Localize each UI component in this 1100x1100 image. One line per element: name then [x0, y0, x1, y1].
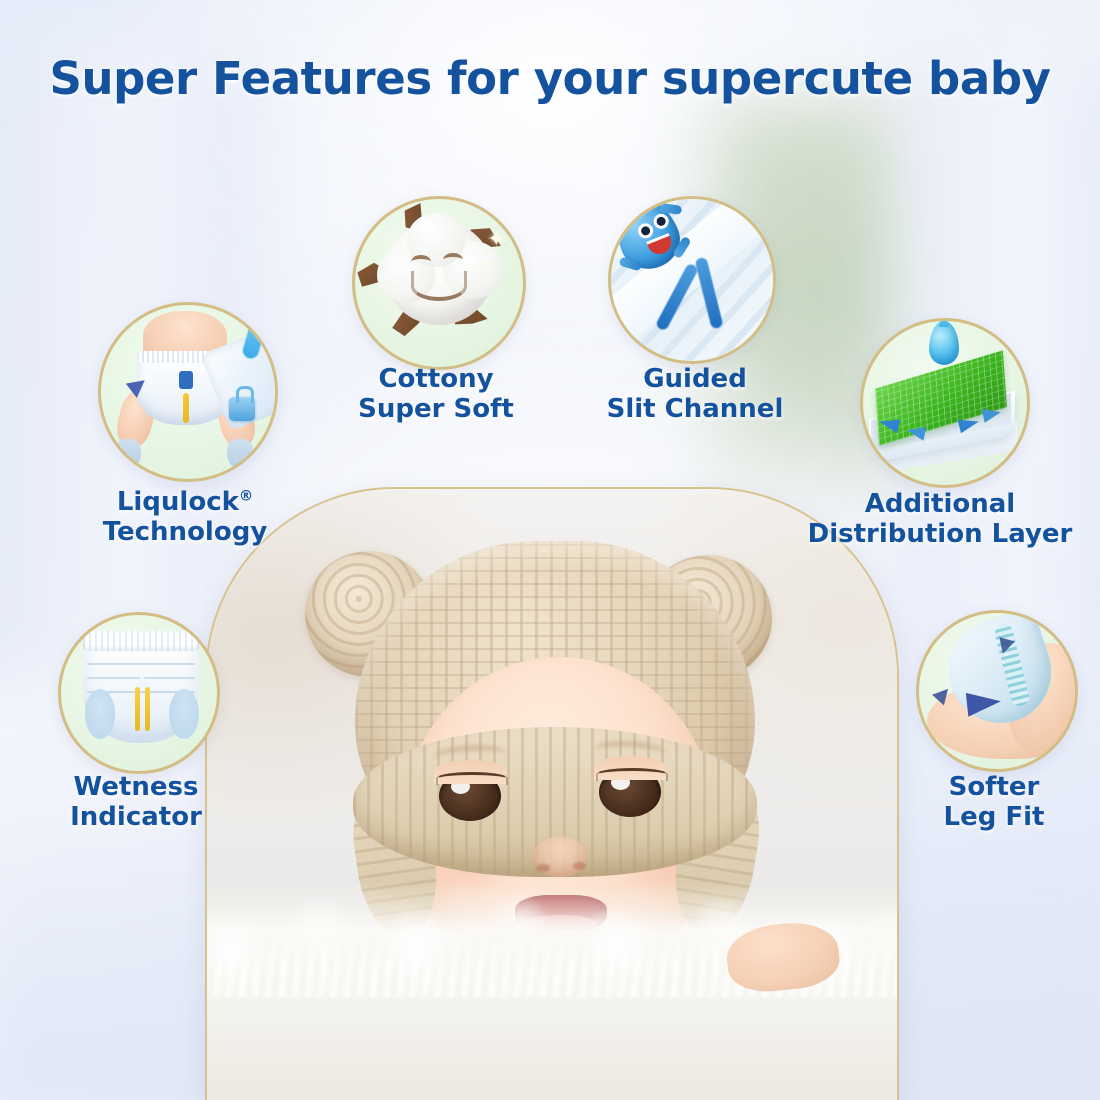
- product-feature-infographic: Super Features for your supercute baby: [0, 0, 1100, 1100]
- feature-label-line1: Cottony: [378, 364, 493, 394]
- baby-eye-left: [439, 771, 501, 821]
- feature-label-wetness: Wetness Indicator: [16, 772, 256, 832]
- hero-baby-photo: [207, 489, 897, 1100]
- feature-label-adl: Additional Distribution Layer: [790, 489, 1090, 549]
- page-title: Super Features for your supercute baby: [0, 52, 1100, 105]
- feature-label-line1: Wetness: [74, 772, 199, 802]
- feature-label-line1: Liqulock: [117, 487, 239, 517]
- diaper-baby-lock-icon: [98, 302, 278, 482]
- absorbent-layers-droplet-icon: [860, 318, 1030, 488]
- feature-label-line2: Distribution Layer: [808, 519, 1073, 549]
- feature-label-liqulock: Liqulock® Technology: [40, 487, 330, 547]
- water-droplet-character-icon: [608, 196, 776, 364]
- pull-up-diaper-indicator-icon: [58, 612, 220, 774]
- trademark-symbol: ®: [239, 488, 253, 504]
- feature-label-line2: Slit Channel: [607, 394, 784, 424]
- feature-label-line1: Additional: [865, 489, 1015, 519]
- feature-label-softer-leg-fit: Softer Leg Fit: [874, 772, 1100, 832]
- feature-label-cottony: Cottony Super Soft: [316, 364, 556, 424]
- baby-eye-right: [599, 767, 661, 817]
- smiling-cotton-boll-icon: ✦✦: [352, 196, 526, 370]
- feature-label-line2: Technology: [103, 517, 268, 547]
- feature-label-line1: Guided: [643, 364, 747, 394]
- feature-label-line1: Softer: [949, 772, 1040, 802]
- feature-label-guided: Guided Slit Channel: [580, 364, 810, 424]
- baby-leg-cuff-icon: [916, 610, 1078, 772]
- feature-label-line2: Leg Fit: [944, 802, 1045, 832]
- hero-photo-frame: [205, 487, 899, 1100]
- feature-label-line2: Indicator: [70, 802, 202, 832]
- feature-label-line2: Super Soft: [358, 394, 514, 424]
